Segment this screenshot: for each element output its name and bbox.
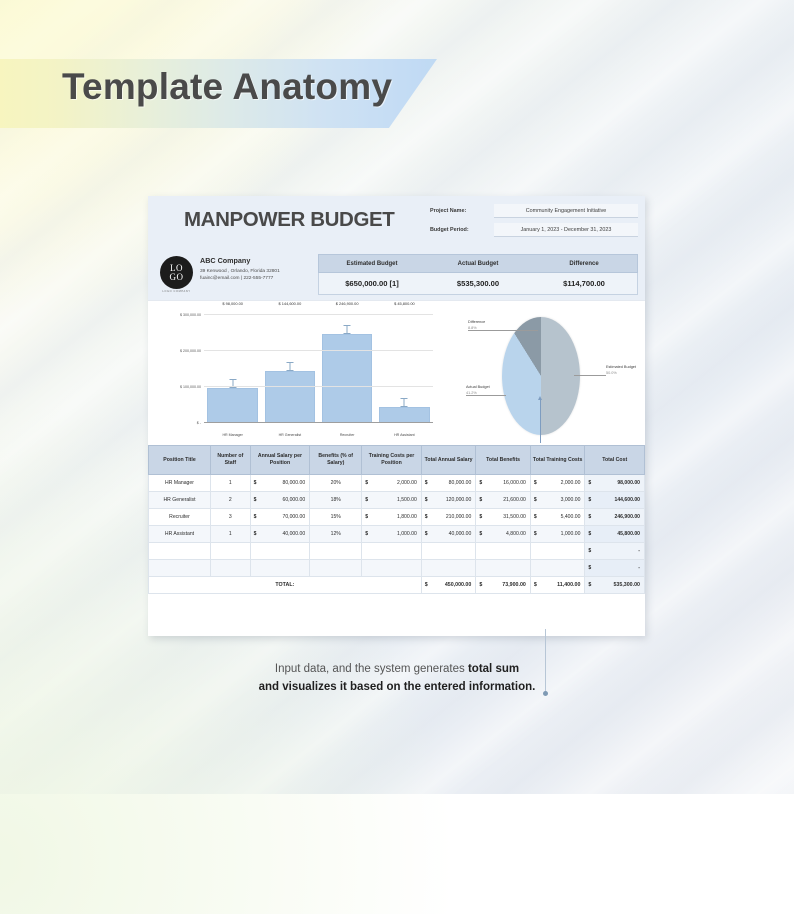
table-cell[interactable]: $450,000.00 [421, 577, 476, 594]
table-cell[interactable]: $11,400.00 [530, 577, 585, 594]
table-cell[interactable]: $98,000.00 [585, 475, 645, 492]
table-cell[interactable] [211, 560, 251, 577]
bar-series: $ 98,000.00$ 144,600.00$ 246,900.00$ 45,… [204, 315, 433, 423]
currency-symbol: $ [254, 514, 257, 520]
bar[interactable]: $ 144,600.00 [265, 371, 315, 423]
table-cell[interactable]: $1,000.00 [362, 526, 422, 543]
table-cell[interactable]: $31,500.00 [476, 509, 531, 526]
table-cell[interactable] [421, 543, 476, 560]
currency-symbol: $ [365, 497, 368, 503]
table-cell[interactable]: HR Generalist [149, 492, 211, 509]
company-details: ABC Company 39 Kenwood , Orlando, Florid… [200, 256, 280, 283]
table-cell[interactable] [250, 560, 310, 577]
pie-marker-icon [540, 399, 541, 443]
table-cell[interactable] [530, 560, 585, 577]
budget-period-label: Budget Period: [430, 227, 494, 233]
table-cell[interactable] [149, 543, 211, 560]
table-cell[interactable] [476, 560, 531, 577]
summary-header-actual: Actual Budget [425, 255, 531, 272]
currency-symbol: $ [534, 531, 537, 537]
summary-value-estimated: $650,000.00 [1] [319, 273, 425, 294]
table-cell[interactable]: HR Assistant [149, 526, 211, 543]
document-title: MANPOWER BUDGET [184, 208, 394, 232]
bar-slot: $ 98,000.00 [207, 315, 257, 423]
table-cell[interactable]: 20% [310, 475, 362, 492]
budget-sheet: MANPOWER BUDGET Project Name: Community … [148, 196, 645, 636]
table-cell[interactable]: $45,800.00 [585, 526, 645, 543]
bar-error-bar [347, 325, 348, 334]
bar[interactable]: $ 45,800.00 [379, 407, 429, 423]
bar[interactable]: $ 246,900.00 [322, 334, 372, 423]
bar-chart-x-tick-label: HR Generalist [265, 433, 315, 437]
table-row: Recruiter3$70,000.0015%$1,800.00$210,000… [149, 509, 645, 526]
currency-symbol: $ [365, 514, 368, 520]
col-total-salary: Total Annual Salary [421, 446, 476, 475]
currency-symbol: $ [534, 514, 537, 520]
budget-period-value[interactable]: January 1, 2023 - December 31, 2023 [494, 223, 638, 237]
project-name-row: Project Name: Community Engagement Initi… [430, 204, 638, 218]
col-training-costs: Training Costs per Position [362, 446, 422, 475]
bar-chart-gridline: $ 100,000.00 [204, 386, 433, 387]
total-label: TOTAL: [149, 577, 422, 594]
currency-symbol: $ [588, 480, 591, 486]
table-cell[interactable] [211, 543, 251, 560]
col-number-of-staff: Number of Staff [211, 446, 251, 475]
table-body: HR Manager1$80,000.0020%$2,000.00$80,000… [149, 475, 645, 594]
table-row: $- [149, 543, 645, 560]
currency-symbol: $ [479, 480, 482, 486]
page-title: Template Anatomy [62, 66, 392, 108]
table-row: $- [149, 560, 645, 577]
summary-header-estimated: Estimated Budget [319, 255, 425, 272]
currency-symbol: $ [479, 497, 482, 503]
bar-chart-gridline: $ 200,000.00 [204, 350, 433, 351]
table-cell[interactable]: 1 [211, 475, 251, 492]
currency-symbol: $ [588, 582, 591, 588]
currency-symbol: $ [588, 497, 591, 503]
currency-symbol: $ [425, 514, 428, 520]
bar-slot: $ 45,800.00 [379, 315, 429, 423]
table-cell[interactable] [310, 543, 362, 560]
bar-chart-x-labels: HR ManagerHR GeneralistRecruiterHR Assis… [204, 433, 433, 437]
currency-symbol: $ [534, 497, 537, 503]
logo-text-line2: GO [170, 273, 184, 282]
table-cell[interactable]: $4,800.00 [476, 526, 531, 543]
bar-chart-x-tick-label: HR Manager [207, 433, 257, 437]
caption-line-2: and visualizes it based on the entered i… [0, 679, 794, 697]
table-cell[interactable]: $2,000.00 [362, 475, 422, 492]
pie-slices [502, 317, 580, 435]
table-cell[interactable]: $21,600.00 [476, 492, 531, 509]
bar-chart-x-tick-label: Recruiter [322, 433, 372, 437]
table-row: HR Manager1$80,000.0020%$2,000.00$80,000… [149, 475, 645, 492]
col-benefits-pct: Benefits (% of Salary) [310, 446, 362, 475]
table-cell[interactable]: 15% [310, 509, 362, 526]
company-contact: fuainc@email.com | 222-555-7777 [200, 275, 280, 282]
table-cell[interactable]: $60,000.00 [250, 492, 310, 509]
pie-label-difference: Difference 8.8% [468, 320, 485, 331]
currency-symbol: $ [534, 480, 537, 486]
summary-value-actual: $535,300.00 [425, 273, 531, 294]
table-cell[interactable]: $1,000.00 [530, 526, 585, 543]
currency-symbol: $ [479, 514, 482, 520]
table-cell[interactable] [421, 560, 476, 577]
table-cell[interactable]: 1 [211, 526, 251, 543]
currency-symbol: $ [254, 531, 257, 537]
table-row: HR Assistant1$40,000.0012%$1,000.00$40,0… [149, 526, 645, 543]
caption-line-1-bold: total sum [468, 663, 519, 675]
bar-chart: $ 98,000.00$ 144,600.00$ 246,900.00$ 45,… [162, 309, 437, 441]
project-meta-fields: Project Name: Community Engagement Initi… [430, 204, 638, 242]
caption: Input data, and the system generates tot… [0, 661, 794, 697]
caption-line-2-bold: and visualizes it based on the entered i… [259, 681, 536, 693]
table-cell[interactable]: $246,900.00 [585, 509, 645, 526]
summary-header-row: Estimated Budget Actual Budget Differenc… [318, 254, 638, 273]
summary-header-difference: Difference [531, 255, 637, 272]
bar-chart-axis [204, 422, 433, 423]
bar-slot: $ 144,600.00 [265, 315, 315, 423]
sheet-header: MANPOWER BUDGET Project Name: Community … [148, 196, 645, 300]
company-name: ABC Company [200, 256, 280, 265]
currency-symbol: $ [425, 480, 428, 486]
table-cell[interactable] [250, 543, 310, 560]
budget-summary: Estimated Budget Actual Budget Differenc… [318, 254, 638, 295]
table-cell[interactable]: $16,000.00 [476, 475, 531, 492]
bar-chart-y-tick-label: $ - [197, 421, 201, 425]
currency-symbol: $ [588, 565, 591, 571]
pie-label-actual: Actual Budget 41.2% [466, 385, 490, 396]
col-position-title: Position Title [149, 446, 211, 475]
currency-symbol: $ [534, 582, 537, 588]
table-cell[interactable]: 12% [310, 526, 362, 543]
project-name-label: Project Name: [430, 208, 494, 214]
table-cell[interactable] [362, 543, 422, 560]
currency-symbol: $ [254, 497, 257, 503]
table-cell[interactable]: $2,000.00 [530, 475, 585, 492]
table-cell[interactable]: $5,400.00 [530, 509, 585, 526]
table-cell[interactable]: 18% [310, 492, 362, 509]
table-cell[interactable] [530, 543, 585, 560]
table-cell[interactable] [362, 560, 422, 577]
currency-symbol: $ [365, 480, 368, 486]
table-cell[interactable] [476, 543, 531, 560]
table-cell[interactable]: $80,000.00 [250, 475, 310, 492]
table-cell[interactable]: $1,800.00 [362, 509, 422, 526]
currency-symbol: $ [588, 531, 591, 537]
bar-value-label: $ 246,900.00 [336, 301, 359, 306]
col-total-benefits: Total Benefits [476, 446, 531, 475]
table-cell[interactable]: 2 [211, 492, 251, 509]
table-cell[interactable]: $- [585, 560, 645, 577]
table-cell[interactable] [310, 560, 362, 577]
table-row: HR Generalist2$60,000.0018%$1,500.00$120… [149, 492, 645, 509]
bar-chart-y-tick-label: $ 100,000.00 [180, 385, 201, 389]
summary-value-row: $650,000.00 [1] $535,300.00 $114,700.00 [318, 273, 638, 295]
col-annual-salary: Annual Salary per Position [250, 446, 310, 475]
bar-chart-plot: $ 98,000.00$ 144,600.00$ 246,900.00$ 45,… [204, 315, 433, 423]
pie-leader-estimated [574, 375, 606, 376]
table-cell[interactable] [149, 560, 211, 577]
pie-chart: Difference 8.8% Actual Budget 41.2% Esti… [444, 307, 640, 443]
logo-subtitle: LOGO COMPANY [160, 290, 193, 293]
bar-error-bar [289, 362, 290, 371]
table-cell[interactable]: $73,900.00 [476, 577, 531, 594]
bar-value-label: $ 144,600.00 [279, 301, 302, 306]
caption-line-1-plain: Input data, and the system generates [275, 663, 468, 675]
table-cell[interactable]: $70,000.00 [250, 509, 310, 526]
currency-symbol: $ [425, 582, 428, 588]
col-total-training: Total Training Costs [530, 446, 585, 475]
currency-symbol: $ [479, 531, 482, 537]
col-total-cost: Total Cost [585, 446, 645, 475]
bar-chart-y-tick-label: $ 300,000.00 [180, 313, 201, 317]
table-cell[interactable]: $40,000.00 [421, 526, 476, 543]
table-cell[interactable]: HR Manager [149, 475, 211, 492]
charts-area: $ 98,000.00$ 144,600.00$ 246,900.00$ 45,… [148, 300, 645, 445]
currency-symbol: $ [254, 480, 257, 486]
project-name-value[interactable]: Community Engagement Initiative [494, 204, 638, 218]
pie-label-estimated: Estimated Budget 50.0% [606, 365, 636, 376]
currency-symbol: $ [588, 514, 591, 520]
table-cell[interactable]: $- [585, 543, 645, 560]
table-cell[interactable]: 3 [211, 509, 251, 526]
table-cell[interactable]: $120,000.00 [421, 492, 476, 509]
currency-symbol: $ [479, 582, 482, 588]
bar-chart-y-tick-label: $ 200,000.00 [180, 349, 201, 353]
company-block: LO GO LOGO COMPANY ABC Company 39 Kenwoo… [160, 256, 280, 289]
table-cell[interactable]: Recruiter [149, 509, 211, 526]
bar-chart-gridline: $ 300,000.00 [204, 314, 433, 315]
currency-symbol: $ [588, 548, 591, 554]
bar-error-bar [404, 398, 405, 407]
table-cell[interactable]: $3,000.00 [530, 492, 585, 509]
bar-value-label: $ 98,000.00 [222, 301, 243, 306]
budget-table: Position Title Number of Staff Annual Sa… [148, 445, 645, 594]
currency-symbol: $ [365, 531, 368, 537]
company-address: 39 Kenwood , Orlando, Florida 32801 [200, 268, 280, 275]
summary-value-difference: $114,700.00 [531, 273, 637, 294]
bar-chart-x-tick-label: HR Assistant [379, 433, 429, 437]
table-cell[interactable]: $144,600.00 [585, 492, 645, 509]
bar[interactable]: $ 98,000.00 [207, 388, 257, 423]
table-cell[interactable]: $535,300.00 [585, 577, 645, 594]
table-total-row: TOTAL:$450,000.00$73,900.00$11,400.00$53… [149, 577, 645, 594]
table-cell[interactable]: $80,000.00 [421, 475, 476, 492]
currency-symbol: $ [425, 497, 428, 503]
bar-slot: $ 246,900.00 [322, 315, 372, 423]
table-header-row: Position Title Number of Staff Annual Sa… [149, 446, 645, 475]
table-cell[interactable]: $40,000.00 [250, 526, 310, 543]
table-cell[interactable]: $210,000.00 [421, 509, 476, 526]
table-cell[interactable]: $1,500.00 [362, 492, 422, 509]
company-logo: LO GO [160, 256, 193, 289]
budget-period-row: Budget Period: January 1, 2023 - Decembe… [430, 223, 638, 237]
caption-line-1: Input data, and the system generates tot… [0, 661, 794, 679]
currency-symbol: $ [425, 531, 428, 537]
bar-value-label: $ 45,800.00 [394, 301, 415, 306]
